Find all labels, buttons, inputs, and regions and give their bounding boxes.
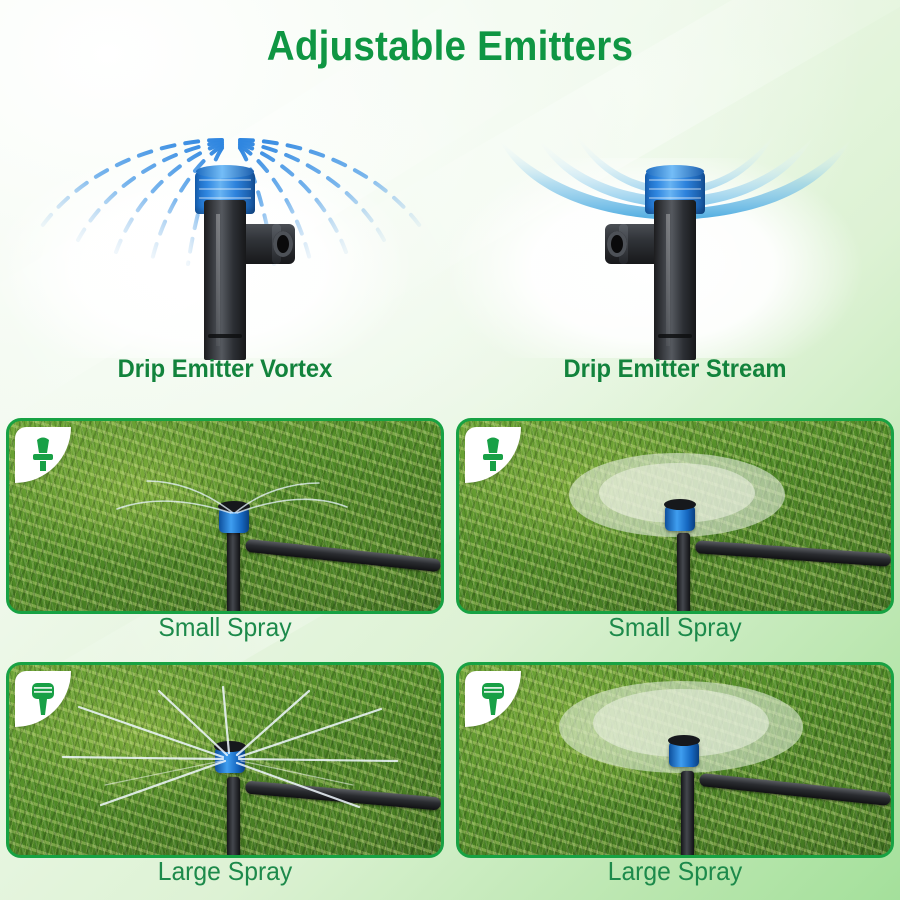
photo-caption: Small Spray bbox=[461, 612, 889, 643]
emitter-cap-rib bbox=[199, 197, 251, 199]
radial-spray-jets bbox=[9, 665, 441, 855]
badge-drip-emitter-stream bbox=[465, 671, 521, 727]
hero-label-vortex: Drip Emitter Vortex bbox=[11, 355, 439, 384]
barb-opening bbox=[607, 231, 627, 257]
drip-emitter-vortex-icon bbox=[465, 427, 521, 483]
emitter-stake-photo bbox=[681, 771, 694, 857]
emitter-nozzle-photo bbox=[665, 505, 695, 531]
photo-small-spray-stream[interactable] bbox=[456, 418, 894, 614]
emitter-cap-rib bbox=[199, 188, 251, 190]
photo-caption: Small Spray bbox=[11, 612, 439, 643]
photo-small-spray-vortex[interactable] bbox=[6, 418, 444, 614]
hero-label-stream: Drip Emitter Stream bbox=[461, 355, 889, 384]
emitter-stake-photo bbox=[677, 533, 690, 613]
hero-item-stream: Drip Emitter Stream bbox=[450, 100, 900, 360]
emitter-stake-notch bbox=[208, 334, 242, 338]
barb-opening bbox=[273, 231, 293, 257]
drip-emitter-stream-icon bbox=[15, 671, 71, 727]
emitter-stake-notch bbox=[658, 334, 692, 338]
emitter-cap-rib bbox=[649, 197, 701, 199]
emitter-cap-rib bbox=[199, 179, 251, 181]
drip-emitter-vortex-icon bbox=[15, 427, 71, 483]
emitter-product-stream bbox=[595, 170, 755, 360]
emitter-nozzle-photo bbox=[669, 741, 699, 767]
infographic-page: Adjustable Emitters bbox=[0, 0, 900, 900]
photo-large-spray-vortex[interactable] bbox=[6, 662, 444, 858]
photo-cell: Large Spray bbox=[450, 656, 900, 900]
spray-jets bbox=[9, 421, 441, 611]
badge-drip-emitter-vortex bbox=[15, 427, 71, 483]
emitter-cap-top bbox=[646, 165, 704, 178]
page-title: Adjustable Emitters bbox=[36, 22, 864, 70]
emitter-product-vortex bbox=[145, 170, 305, 360]
emitter-cap-rib bbox=[649, 179, 701, 181]
drip-emitter-stream-icon bbox=[465, 671, 521, 727]
hero-section: Drip Emitter Vortex bbox=[0, 100, 900, 360]
photo-cell: Small Spray bbox=[450, 412, 900, 656]
photo-caption: Large Spray bbox=[11, 856, 439, 887]
photo-cell: Large Spray bbox=[0, 656, 450, 900]
photo-large-spray-stream[interactable] bbox=[456, 662, 894, 858]
nozzle-top bbox=[668, 735, 700, 746]
nozzle-top bbox=[664, 499, 696, 510]
badge-drip-emitter-stream bbox=[15, 671, 71, 727]
photo-grid: Small Spray bbox=[0, 412, 900, 900]
emitter-cap-rib bbox=[649, 188, 701, 190]
emitter-cap-top bbox=[196, 165, 254, 178]
hero-item-vortex: Drip Emitter Vortex bbox=[0, 100, 450, 360]
badge-drip-emitter-vortex bbox=[465, 427, 521, 483]
photo-cell: Small Spray bbox=[0, 412, 450, 656]
photo-caption: Large Spray bbox=[461, 856, 889, 887]
